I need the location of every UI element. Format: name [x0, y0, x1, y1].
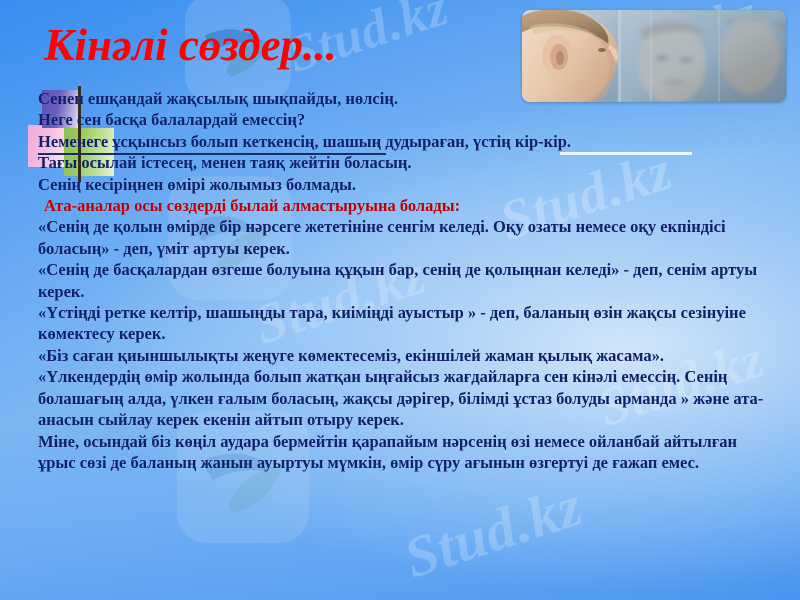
slide-title: Кінәлі сөздер...	[44, 20, 337, 70]
body-line: Неменеге ұсқынсыз болып кеткенсің, шашың…	[38, 131, 766, 152]
body-line: Тағы осылай істесең, менен таяқ жейтін б…	[38, 152, 766, 173]
light-horizontal-rule	[560, 152, 692, 155]
body-line: Сенен ешқандай жақсылық шықпайды, нөлсің…	[38, 88, 766, 109]
body-line: Сенің кесіріңнен өмірі жолымыз болмады.	[38, 174, 766, 195]
body-line: «Үлкендердің өмір жолында болып жатқан ы…	[38, 366, 766, 430]
body-line: «Сенің де басқалардан өзгеше болуына құқ…	[38, 259, 766, 302]
body-line: «Біз саған қиыншылықты жеңуге көмектесем…	[38, 345, 766, 366]
body-line: Неге сен басқа балалардай емессің?	[38, 109, 766, 130]
body-line-highlight: Ата-аналар осы сөздерді былай алмастыруы…	[38, 195, 766, 216]
strikethrough-rule	[38, 153, 386, 155]
slide-body-text: Сенен ешқандай жақсылық шықпайды, нөлсің…	[38, 88, 766, 473]
watermark-text: Stud.kz	[396, 471, 590, 591]
presentation-slide: Stud.kz Stud.kz Stud.kz Stud.kz Stud.kz …	[0, 0, 800, 600]
body-line: Міне, осындай біз көңіл аудара бермейтін…	[38, 431, 766, 474]
body-line: «Үстіңді ретке келтір, шашыңды тара, киі…	[38, 302, 766, 345]
body-line: «Сенің де қолын өмірде бір нәрсеге жетет…	[38, 216, 766, 259]
